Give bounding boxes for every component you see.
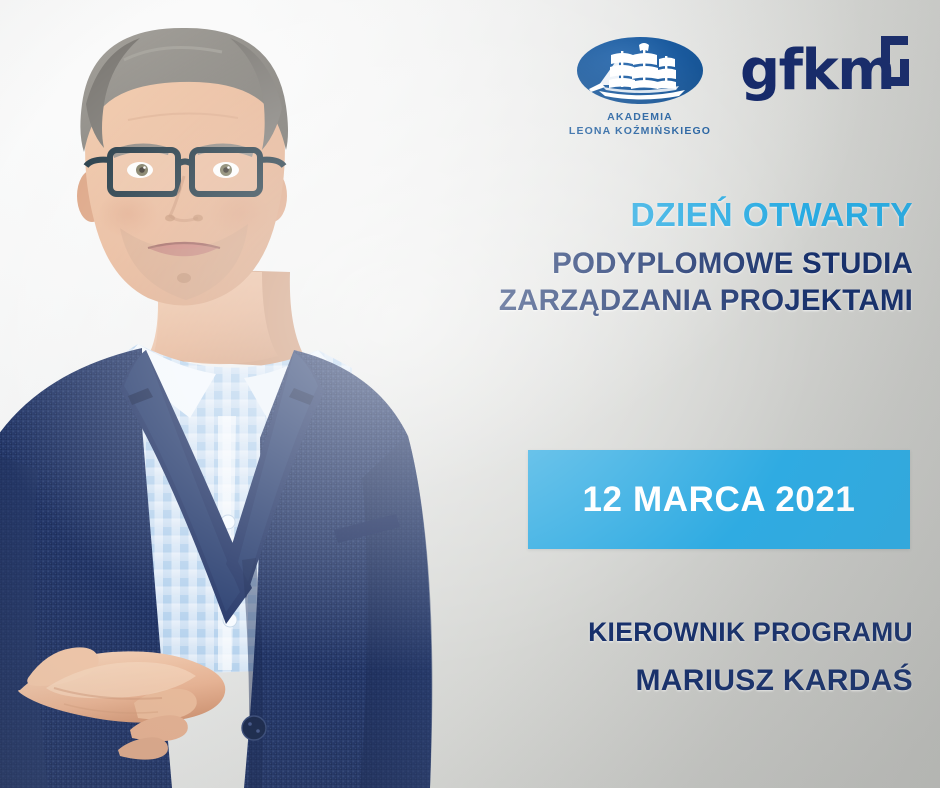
rotational-bracket-icon (868, 34, 922, 93)
program-title-line-1: PODYPLOMOWE STUDIA (383, 245, 913, 282)
alk-logo[interactable]: AKADEMIA LEONA KOŹMIŃSKIEGO (554, 26, 726, 138)
gfkm-logo[interactable]: gfkm (740, 34, 922, 112)
logo-row: AKADEMIA LEONA KOŹMIŃSKIEGO gfkm (540, 26, 922, 148)
sailing-ship-icon (577, 37, 703, 104)
event-kicker: DZIEŃ OTWARTY (383, 196, 913, 236)
program-title-line-2: ZARZĄDZANIA PROJEKTAMI (383, 282, 913, 319)
headline-block: DZIEŃ OTWARTY PODYPLOMOWE STUDIA ZARZĄDZ… (383, 196, 913, 319)
event-date-text: 12 MARCA 2021 (582, 480, 855, 520)
event-date-badge[interactable]: 12 MARCA 2021 (528, 450, 910, 549)
program-manager-role: KIEROWNIK PROGRAMU (393, 615, 913, 649)
alk-logo-name: AKADEMIA LEONA KOŹMIŃSKIEGO (554, 111, 726, 138)
program-manager-credit: KIEROWNIK PROGRAMU MARIUSZ KARDAŚ (393, 615, 913, 700)
program-manager-name: MARIUSZ KARDAŚ (393, 662, 913, 700)
promo-poster: AKADEMIA LEONA KOŹMIŃSKIEGO gfkm DZIEŃ O… (0, 0, 940, 788)
program-title: PODYPLOMOWE STUDIA ZARZĄDZANIA PROJEKTAM… (383, 245, 913, 319)
